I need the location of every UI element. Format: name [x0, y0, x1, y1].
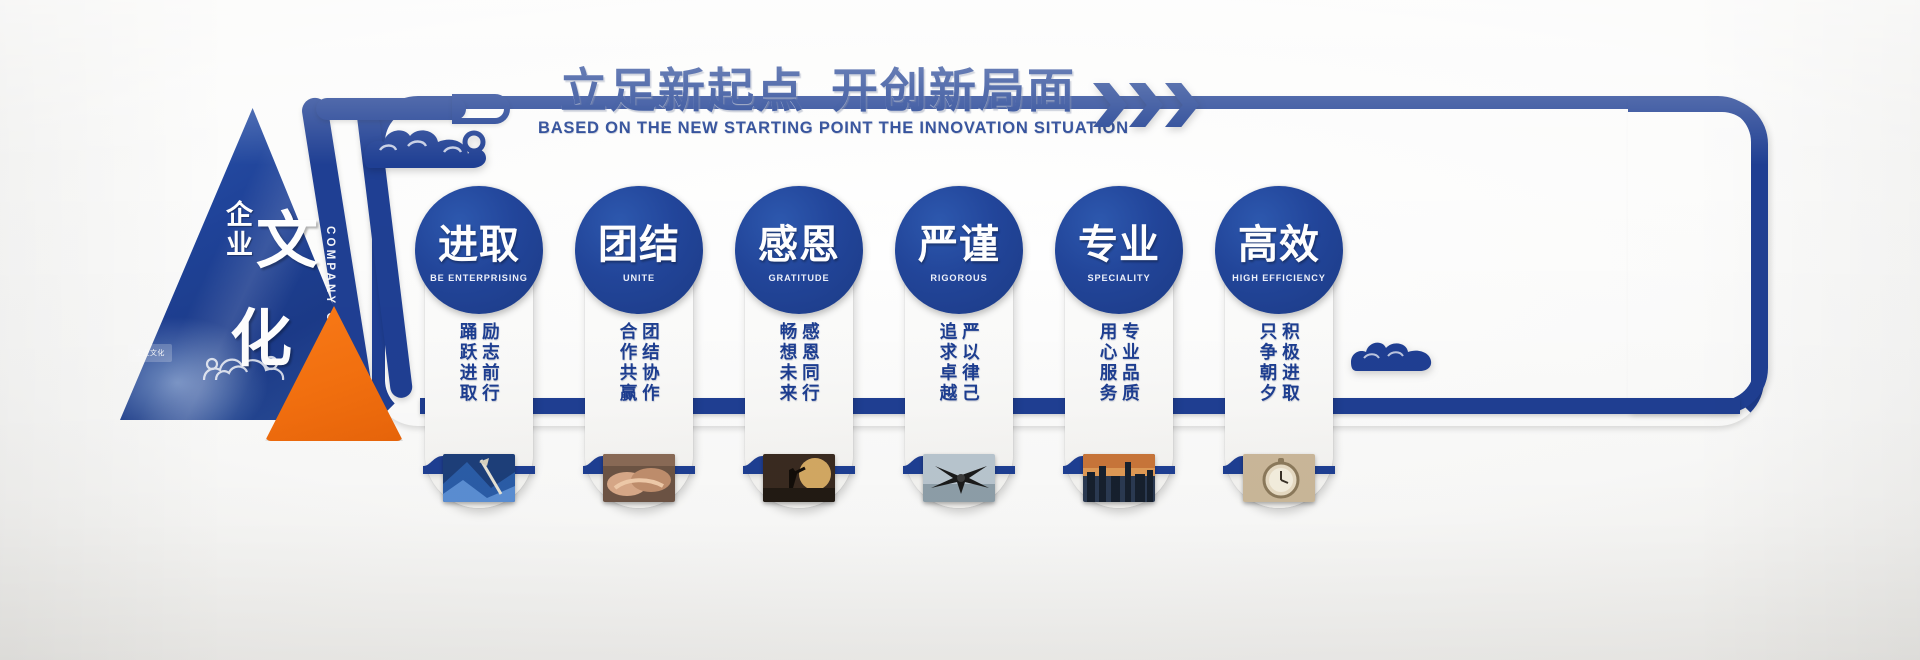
card-vtext-left: 合作共赢: [619, 322, 637, 442]
card-title-cn: 团结: [598, 225, 680, 265]
header-cn-left: 立足新起点: [560, 64, 805, 117]
card-vertical-text: 专业品质 用心服务: [1065, 322, 1173, 442]
card-vertical-text: 积极进取 只争朝夕: [1225, 322, 1333, 442]
card-vtext-right: 积极进取: [1281, 322, 1299, 442]
card-circle-badge: 团结 UNITE: [575, 186, 703, 314]
card-photo: [923, 454, 995, 502]
value-card[interactable]: 高效 HIGH EFFICIENCY 积极进取 只争朝夕: [1225, 186, 1333, 508]
card-vertical-text: 励志前行 踊跃进取: [425, 322, 533, 442]
card-vertical-text: 感恩同行 畅想未来: [745, 322, 853, 442]
value-card[interactable]: 专业 SPECIALITY 专业品质 用心服务: [1065, 186, 1173, 508]
card-title-en: SPECIALITY: [1087, 273, 1150, 283]
chevron-right-icon: [1165, 83, 1199, 127]
value-card[interactable]: 进取 BE ENTERPRISING 励志前行 踊跃进取: [425, 186, 533, 508]
card-vertical-text: 严以律己 追求卓越: [905, 322, 1013, 442]
header-subtitle-en: BASED ON THE NEW STARTING POINT THE INNO…: [538, 119, 1098, 138]
card-vtext-right: 励志前行: [481, 322, 499, 442]
header-cn-right: 开创新局面: [831, 64, 1076, 117]
card-photo: [763, 454, 835, 502]
card-vertical-text: 团结协作 合作共赢: [585, 322, 693, 442]
header-slogan-block: 立足新起点开创新局面 BASED ON THE NEW STARTING POI…: [538, 64, 1098, 138]
card-title-cn: 高效: [1238, 225, 1320, 265]
card-vtext-left: 畅想未来: [779, 322, 797, 442]
card-vtext-left: 踊跃进取: [459, 322, 477, 442]
card-title-en: GRATITUDE: [768, 273, 829, 283]
value-card[interactable]: 感恩 GRATITUDE 感恩同行 畅想未来: [745, 186, 853, 508]
wall-display-scene: 企业 文 化 COMPANY CULTURE 企业文化 立足新起点开创新局面 B…: [0, 0, 1920, 660]
value-cards-row: 进取 BE ENTERPRISING 励志前行 踊跃进取: [425, 186, 1715, 516]
chevron-arrows-group: [1093, 83, 1199, 127]
card-title-en: RIGOROUS: [930, 273, 987, 283]
logo-corner-badge: 企业文化: [128, 344, 172, 362]
card-circle-badge: 进取 BE ENTERPRISING: [415, 186, 543, 314]
card-circle-badge: 高效 HIGH EFFICIENCY: [1215, 186, 1343, 314]
card-vtext-left: 追求卓越: [939, 322, 957, 442]
card-photo: [603, 454, 675, 502]
card-title-en: UNITE: [623, 273, 655, 283]
logo-cn-wen: 文: [256, 190, 318, 280]
chevron-right-icon: [1093, 83, 1127, 127]
card-title-cn: 感恩: [758, 225, 840, 265]
value-card[interactable]: 严谨 RIGOROUS 严以律己 追求卓越: [905, 186, 1013, 508]
card-vtext-left: 只争朝夕: [1259, 322, 1277, 442]
card-title-en: HIGH EFFICIENCY: [1232, 273, 1326, 283]
header-title-cn: 立足新起点开创新局面: [538, 64, 1098, 118]
card-circle-badge: 感恩 GRATITUDE: [735, 186, 863, 314]
logo-cloud-icon: [198, 336, 288, 388]
card-title-cn: 进取: [438, 225, 520, 265]
card-photo: [1083, 454, 1155, 502]
card-circle-badge: 专业 SPECIALITY: [1055, 186, 1183, 314]
card-vtext-right: 感恩同行: [801, 322, 819, 442]
logo-cn-small: 企业: [218, 200, 257, 260]
card-vtext-left: 用心服务: [1099, 322, 1117, 442]
card-title-en: BE ENTERPRISING: [430, 273, 528, 283]
card-title-cn: 专业: [1078, 225, 1160, 265]
card-photo: [443, 454, 515, 502]
card-vtext-right: 专业品质: [1121, 322, 1139, 442]
card-photo: [1243, 454, 1315, 502]
card-vtext-right: 团结协作: [641, 322, 659, 442]
value-card[interactable]: 团结 UNITE 团结协作 合作共赢: [585, 186, 693, 508]
card-title-cn: 严谨: [918, 225, 1000, 265]
chevron-right-icon: [1129, 83, 1163, 127]
card-circle-badge: 严谨 RIGOROUS: [895, 186, 1023, 314]
card-vtext-right: 严以律己: [961, 322, 979, 442]
